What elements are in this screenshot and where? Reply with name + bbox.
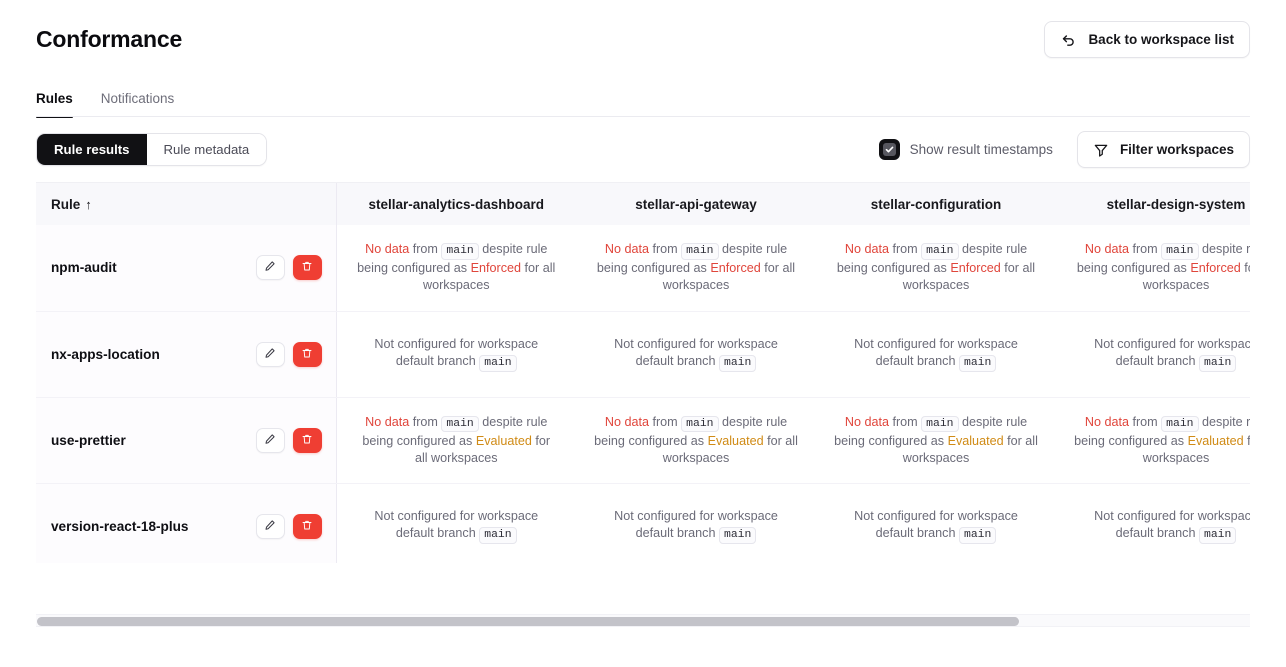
no-data-label: No data <box>365 415 409 429</box>
pencil-icon <box>264 519 276 534</box>
tabs-divider <box>36 116 1250 117</box>
table-row: version-react-18-plusNot configured for … <box>36 483 1250 563</box>
trash-icon <box>301 347 313 362</box>
page-header: Conformance Back to workspace list <box>0 0 1286 78</box>
rule-actions <box>256 514 322 539</box>
branch-chip: main <box>479 527 516 544</box>
branch-chip: main <box>719 527 756 544</box>
horizontal-scrollbar-track[interactable] <box>36 614 1250 627</box>
rule-actions <box>256 255 322 280</box>
result-cell: Not configured for workspace default bra… <box>576 311 816 397</box>
tab-notifications[interactable]: Notifications <box>87 91 189 117</box>
segment-rule-results-label: Rule results <box>54 142 130 157</box>
tab-rules-label: Rules <box>36 91 73 106</box>
branch-chip: main <box>1161 243 1198 260</box>
checkbox-box <box>883 143 896 156</box>
back-to-workspace-list-label: Back to workspace list <box>1088 32 1234 47</box>
result-cell: Not configured for workspace default bra… <box>1056 311 1250 397</box>
rule-actions <box>256 428 322 453</box>
pencil-icon <box>264 347 276 362</box>
undo-arrow-icon <box>1060 31 1077 48</box>
result-cell: Not configured for workspace default bra… <box>336 311 576 397</box>
column-header-rule[interactable]: Rule↑ <box>36 183 336 225</box>
tab-notifications-label: Notifications <box>101 91 175 106</box>
pencil-icon <box>264 260 276 275</box>
table-row: npm-auditNo data from main despite rule … <box>36 225 1250 311</box>
checkmark-icon <box>885 145 894 154</box>
horizontal-scrollbar-thumb[interactable] <box>37 617 1019 626</box>
edit-rule-button[interactable] <box>256 428 285 453</box>
table-row: nx-apps-locationNot configured for works… <box>36 311 1250 397</box>
column-header-workspace[interactable]: stellar-analytics-dashboard <box>336 183 576 225</box>
result-cell: Not configured for workspace default bra… <box>336 483 576 563</box>
branch-chip: main <box>441 243 478 260</box>
no-data-label: No data <box>365 242 409 256</box>
sort-ascending-icon: ↑ <box>85 197 92 212</box>
delete-rule-button[interactable] <box>293 342 322 367</box>
column-header-workspace[interactable]: stellar-api-gateway <box>576 183 816 225</box>
trash-icon <box>301 433 313 448</box>
delete-rule-button[interactable] <box>293 255 322 280</box>
rule-name: use-prettier <box>51 432 126 449</box>
no-data-label: No data <box>605 242 649 256</box>
branch-chip: main <box>719 355 756 372</box>
result-cell: No data from main despite rule being con… <box>576 397 816 483</box>
result-cell: Not configured for workspace default bra… <box>1056 483 1250 563</box>
show-result-timestamps-label: Show result timestamps <box>910 142 1053 157</box>
branch-chip: main <box>921 243 958 260</box>
filter-workspaces-button[interactable]: Filter workspaces <box>1077 131 1250 168</box>
result-cell: No data from main despite rule being con… <box>336 397 576 483</box>
no-data-label: No data <box>605 415 649 429</box>
result-cell: No data from main despite rule being con… <box>576 225 816 311</box>
status-label: Evaluated <box>708 434 764 448</box>
rule-cell: version-react-18-plus <box>36 483 336 563</box>
branch-chip: main <box>681 416 718 433</box>
pencil-icon <box>264 433 276 448</box>
no-data-label: No data <box>1085 242 1129 256</box>
result-cell: No data from main despite rule being con… <box>336 225 576 311</box>
results-table: Rule↑stellar-analytics-dashboardstellar-… <box>36 183 1250 563</box>
conformance-page: Conformance Back to workspace list Rules… <box>0 0 1286 667</box>
branch-chip: main <box>1161 416 1198 433</box>
tabs-row: Rules Notifications <box>0 78 1286 117</box>
toolbar: Rule results Rule metadata Show <box>0 117 1286 182</box>
rule-cell: nx-apps-location <box>36 311 336 397</box>
status-label: Evaluated <box>1188 434 1244 448</box>
branch-chip: main <box>1199 355 1236 372</box>
column-header-workspace[interactable]: stellar-design-system <box>1056 183 1250 225</box>
status-label: Enforced <box>1190 261 1240 275</box>
segment-rule-metadata[interactable]: Rule metadata <box>147 134 267 165</box>
result-cell: No data from main despite rule being con… <box>816 397 1056 483</box>
toolbar-right-group: Show result timestamps Filter workspaces <box>879 131 1250 168</box>
no-data-label: No data <box>845 415 889 429</box>
result-cell: Not configured for workspace default bra… <box>816 483 1056 563</box>
back-to-workspace-list-button[interactable]: Back to workspace list <box>1044 21 1250 58</box>
result-cell: Not configured for workspace default bra… <box>576 483 816 563</box>
filter-workspaces-label: Filter workspaces <box>1120 142 1234 157</box>
funnel-icon <box>1093 142 1109 158</box>
branch-chip: main <box>441 416 478 433</box>
status-label: Evaluated <box>476 434 532 448</box>
branch-chip: main <box>681 243 718 260</box>
rule-name: nx-apps-location <box>51 346 160 363</box>
show-result-timestamps-checkbox[interactable]: Show result timestamps <box>879 139 1053 160</box>
segment-rule-results[interactable]: Rule results <box>37 134 147 165</box>
result-cell: No data from main despite rule being con… <box>1056 397 1250 483</box>
page-title: Conformance <box>36 26 182 53</box>
rule-cell: npm-audit <box>36 225 336 311</box>
segment-rule-metadata-label: Rule metadata <box>164 142 250 157</box>
rule-actions <box>256 342 322 367</box>
branch-chip: main <box>1199 527 1236 544</box>
status-label: Enforced <box>471 261 521 275</box>
edit-rule-button[interactable] <box>256 514 285 539</box>
table-header-row: Rule↑stellar-analytics-dashboardstellar-… <box>36 183 1250 225</box>
branch-chip: main <box>921 416 958 433</box>
delete-rule-button[interactable] <box>293 428 322 453</box>
branch-chip: main <box>479 355 516 372</box>
view-mode-segmented-control: Rule results Rule metadata <box>36 133 267 166</box>
edit-rule-button[interactable] <box>256 255 285 280</box>
result-cell: No data from main despite rule being con… <box>816 225 1056 311</box>
checkbox-focus-ring <box>879 139 900 160</box>
branch-chip: main <box>959 527 996 544</box>
rule-name: version-react-18-plus <box>51 518 189 535</box>
status-label: Enforced <box>710 261 760 275</box>
trash-icon <box>301 519 313 534</box>
edit-rule-button[interactable] <box>256 342 285 367</box>
results-table-viewport[interactable]: Rule↑stellar-analytics-dashboardstellar-… <box>36 182 1250 563</box>
status-label: Evaluated <box>948 434 1004 448</box>
result-cell: No data from main despite rule being con… <box>1056 225 1250 311</box>
table-row: use-prettierNo data from main despite ru… <box>36 397 1250 483</box>
result-cell: Not configured for workspace default bra… <box>816 311 1056 397</box>
trash-icon <box>301 260 313 275</box>
tab-list: Rules Notifications <box>36 78 1250 117</box>
column-header-workspace[interactable]: stellar-configuration <box>816 183 1056 225</box>
rule-name: npm-audit <box>51 259 117 276</box>
status-label: Enforced <box>950 261 1000 275</box>
branch-chip: main <box>959 355 996 372</box>
delete-rule-button[interactable] <box>293 514 322 539</box>
no-data-label: No data <box>1085 415 1129 429</box>
no-data-label: No data <box>845 242 889 256</box>
tab-rules[interactable]: Rules <box>22 91 87 117</box>
rule-cell: use-prettier <box>36 397 336 483</box>
